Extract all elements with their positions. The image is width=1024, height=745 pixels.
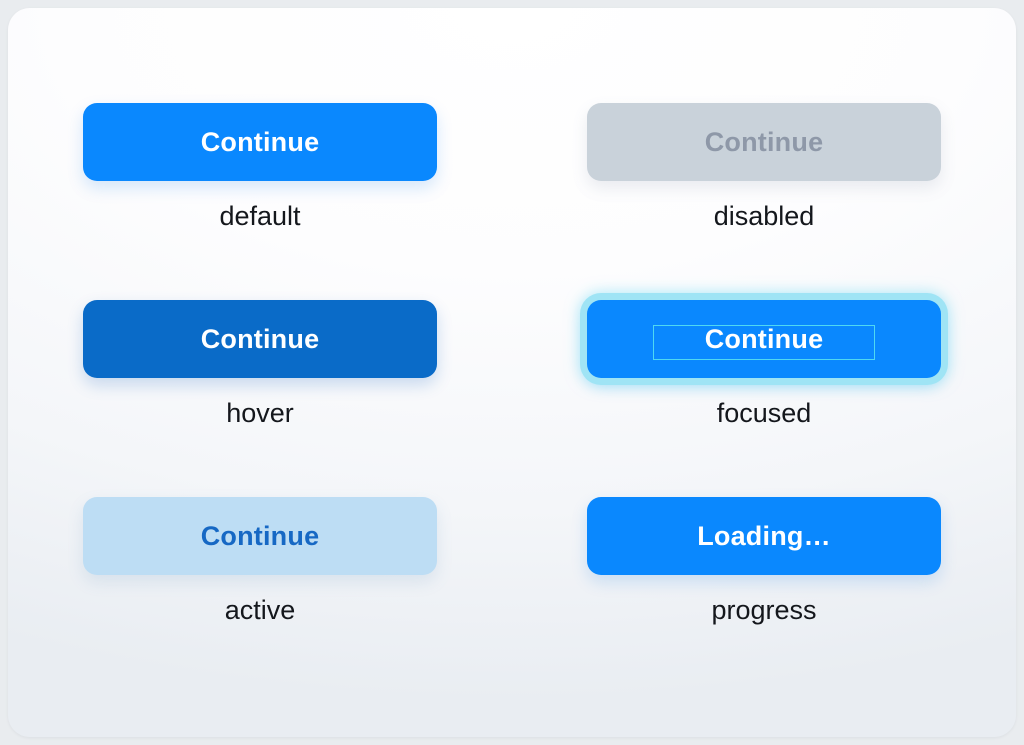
state-caption-hover: hover — [226, 400, 294, 427]
state-caption-disabled: disabled — [714, 203, 815, 230]
state-caption-active: active — [225, 597, 296, 624]
continue-button-default[interactable]: Continue — [83, 103, 437, 181]
state-caption-progress: progress — [711, 597, 816, 624]
state-cell-hover: Continue hover — [8, 265, 512, 462]
continue-button-active[interactable]: Continue — [83, 497, 437, 575]
continue-button-focused[interactable]: Continue — [587, 300, 941, 378]
button-wrapper-hover: Continue — [83, 300, 437, 378]
continue-button-hover[interactable]: Continue — [83, 300, 437, 378]
button-wrapper-default: Continue — [83, 103, 437, 181]
preview-card: Continue default Continue disabled Conti… — [8, 8, 1016, 737]
button-wrapper-focused: Continue — [587, 300, 941, 378]
state-cell-progress: Loading… progress — [512, 462, 1016, 659]
button-wrapper-progress: Loading… — [587, 497, 941, 575]
state-cell-active: Continue active — [8, 462, 512, 659]
state-cell-default: Continue default — [8, 68, 512, 265]
button-wrapper-disabled: Continue — [587, 103, 941, 181]
state-cell-focused: Continue focused — [512, 265, 1016, 462]
continue-button-progress[interactable]: Loading… — [587, 497, 941, 575]
button-wrapper-active: Continue — [83, 497, 437, 575]
continue-button-disabled: Continue — [587, 103, 941, 181]
state-caption-default: default — [219, 203, 300, 230]
state-caption-focused: focused — [717, 400, 812, 427]
button-state-grid: Continue default Continue disabled Conti… — [8, 8, 1016, 737]
state-cell-disabled: Continue disabled — [512, 68, 1016, 265]
